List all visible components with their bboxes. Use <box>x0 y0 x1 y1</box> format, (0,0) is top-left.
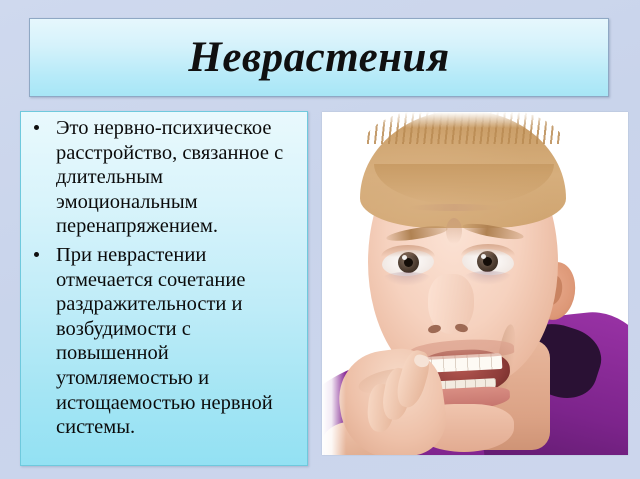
photo-edge-fade-left <box>322 112 346 455</box>
list-item: Это нервно-психическое расстройство, свя… <box>27 116 303 239</box>
bullet-text: Это нервно-психическое расстройство, свя… <box>56 117 283 237</box>
brow-furrow <box>446 218 462 244</box>
title-box: Неврастения <box>29 18 609 97</box>
undereye-shadow-left <box>382 272 432 286</box>
bullet-list: Это нервно-психическое расстройство, свя… <box>27 116 303 440</box>
illustration-photo <box>322 112 628 455</box>
list-item: При неврастении отмечается сочетание раз… <box>27 243 303 440</box>
photo-edge-fade-top <box>322 112 628 128</box>
page-title: Неврастения <box>188 36 449 79</box>
undereye-shadow-right <box>463 271 513 285</box>
presentation-slide: Неврастения Это нервно-психическое расст… <box>0 0 640 479</box>
bullet-text: При неврастении отмечается сочетание раз… <box>56 244 273 438</box>
forehead-wrinkle <box>408 204 500 211</box>
content-panel: Это нервно-психическое расстройство, свя… <box>20 111 308 466</box>
photo-scene <box>322 112 628 455</box>
bullet-point-icon <box>34 252 39 257</box>
bullet-point-icon <box>34 125 39 130</box>
